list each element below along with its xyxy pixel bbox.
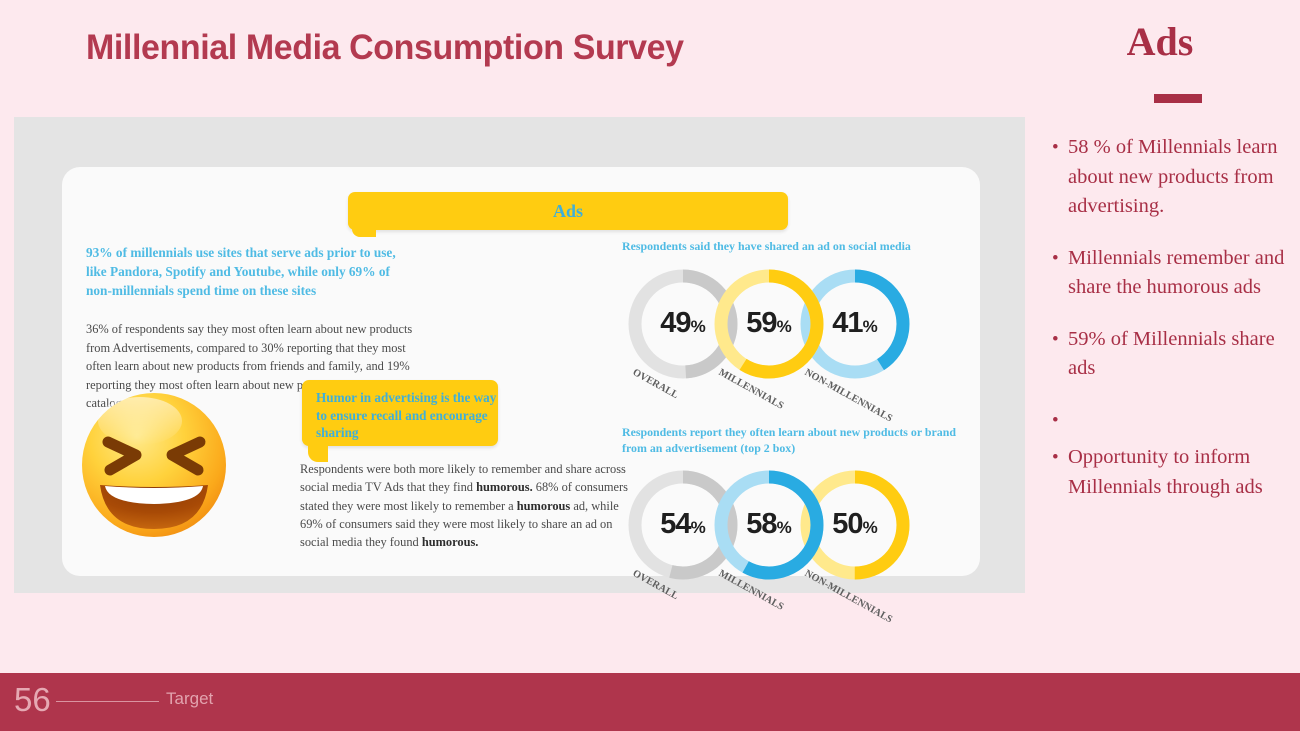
donut-value-number: 49 bbox=[660, 307, 690, 339]
donut-value-number: 59 bbox=[746, 307, 776, 339]
footer-divider bbox=[56, 701, 159, 702]
sidebar-divider bbox=[1154, 94, 1202, 103]
infographic-card: Ads 93% of millennials use sites that se… bbox=[62, 167, 980, 576]
percent-sign: % bbox=[691, 317, 706, 336]
callout-tail bbox=[308, 442, 328, 462]
sidebar-bullet-2: •59% of Millennials share ads bbox=[1052, 325, 1300, 384]
bullet-dot-icon: • bbox=[1052, 325, 1068, 355]
bullet-dot-icon: • bbox=[1052, 406, 1068, 436]
percent-sign: % bbox=[777, 518, 792, 537]
donut-value-label: 58% bbox=[708, 508, 830, 541]
donut-value-number: 58 bbox=[746, 508, 776, 540]
sidebar-bullet-1: •Millennials remember and share the humo… bbox=[1052, 244, 1300, 303]
sidebar-bullet-list: •58 % of Millennials learn about new pro… bbox=[1040, 133, 1300, 502]
percent-sign: % bbox=[691, 518, 706, 537]
sidebar-bullet-4: •Opportunity to inform Millennials throu… bbox=[1052, 443, 1300, 502]
humor-callout-bubble: Humor in advertising is the way to ensur… bbox=[302, 380, 498, 446]
chart-learn-about-new-products: Respondents report they often learn abou… bbox=[622, 425, 962, 592]
sidebar-bullet-3: • bbox=[1052, 406, 1300, 436]
ribbon-tail bbox=[352, 222, 376, 237]
donut-value-number: 41 bbox=[832, 307, 862, 339]
chart-caption: Respondents said they have shared an ad … bbox=[622, 239, 962, 255]
sidebar-bullet-label: 59% of Millennials share ads bbox=[1068, 325, 1300, 384]
sidebar-bullet-0: •58 % of Millennials learn about new pro… bbox=[1052, 133, 1300, 222]
lead-statement: 93% of millennials use sites that serve … bbox=[86, 243, 416, 300]
sidebar-bullet-label: Opportunity to inform Millennials throug… bbox=[1068, 443, 1300, 502]
humor-callout-label: Humor in advertising is the way to ensur… bbox=[302, 380, 498, 442]
bullet-dot-icon: • bbox=[1052, 443, 1068, 473]
bullet-dot-icon: • bbox=[1052, 244, 1068, 274]
humor-paragraph: Respondents were both more likely to rem… bbox=[300, 460, 642, 551]
footer-brand: Target bbox=[166, 689, 213, 709]
chart-caption: Respondents report they often learn abou… bbox=[622, 425, 962, 456]
percent-sign: % bbox=[863, 518, 878, 537]
donut-ring-row: 54%OVERALL58%MILLENNIALS50%NON-MILLENNIA… bbox=[622, 464, 962, 592]
bullet-dot-icon: • bbox=[1052, 133, 1068, 163]
ads-ribbon-label: Ads bbox=[348, 201, 788, 222]
emphasis-text: humorous. bbox=[476, 480, 533, 494]
donut-value-number: 54 bbox=[660, 508, 690, 540]
infographic-panel: Ads 93% of millennials use sites that se… bbox=[14, 117, 1025, 593]
percent-sign: % bbox=[863, 317, 878, 336]
donut-value-label: 59% bbox=[708, 307, 830, 340]
sidebar-bullet-label: Millennials remember and share the humor… bbox=[1068, 244, 1300, 303]
page-number: 56 bbox=[14, 681, 51, 719]
donut-value-number: 50 bbox=[832, 508, 862, 540]
ads-ribbon-banner: Ads bbox=[348, 192, 788, 230]
sidebar-bullet-label: 58 % of Millennials learn about new prod… bbox=[1068, 133, 1300, 222]
grinning-squinting-face-emoji bbox=[74, 385, 234, 545]
donut-ring-millennials: 59%MILLENNIALS bbox=[708, 263, 830, 385]
page-title: Millennial Media Consumption Survey bbox=[86, 28, 684, 68]
emphasis-text: humorous. bbox=[422, 535, 479, 549]
sidebar: Ads •58 % of Millennials learn about new… bbox=[1040, 22, 1300, 642]
emphasis-text: humorous bbox=[517, 499, 570, 513]
percent-sign: % bbox=[777, 317, 792, 336]
sidebar-heading: Ads bbox=[1040, 22, 1300, 62]
donut-ring-row: 49%OVERALL59%MILLENNIALS41%NON-MILLENNIA… bbox=[622, 263, 962, 391]
chart-shared-ad-on-social-media: Respondents said they have shared an ad … bbox=[622, 239, 962, 391]
donut-ring-millennials: 58%MILLENNIALS bbox=[708, 464, 830, 586]
footer-bar: 56 Target bbox=[0, 673, 1300, 731]
